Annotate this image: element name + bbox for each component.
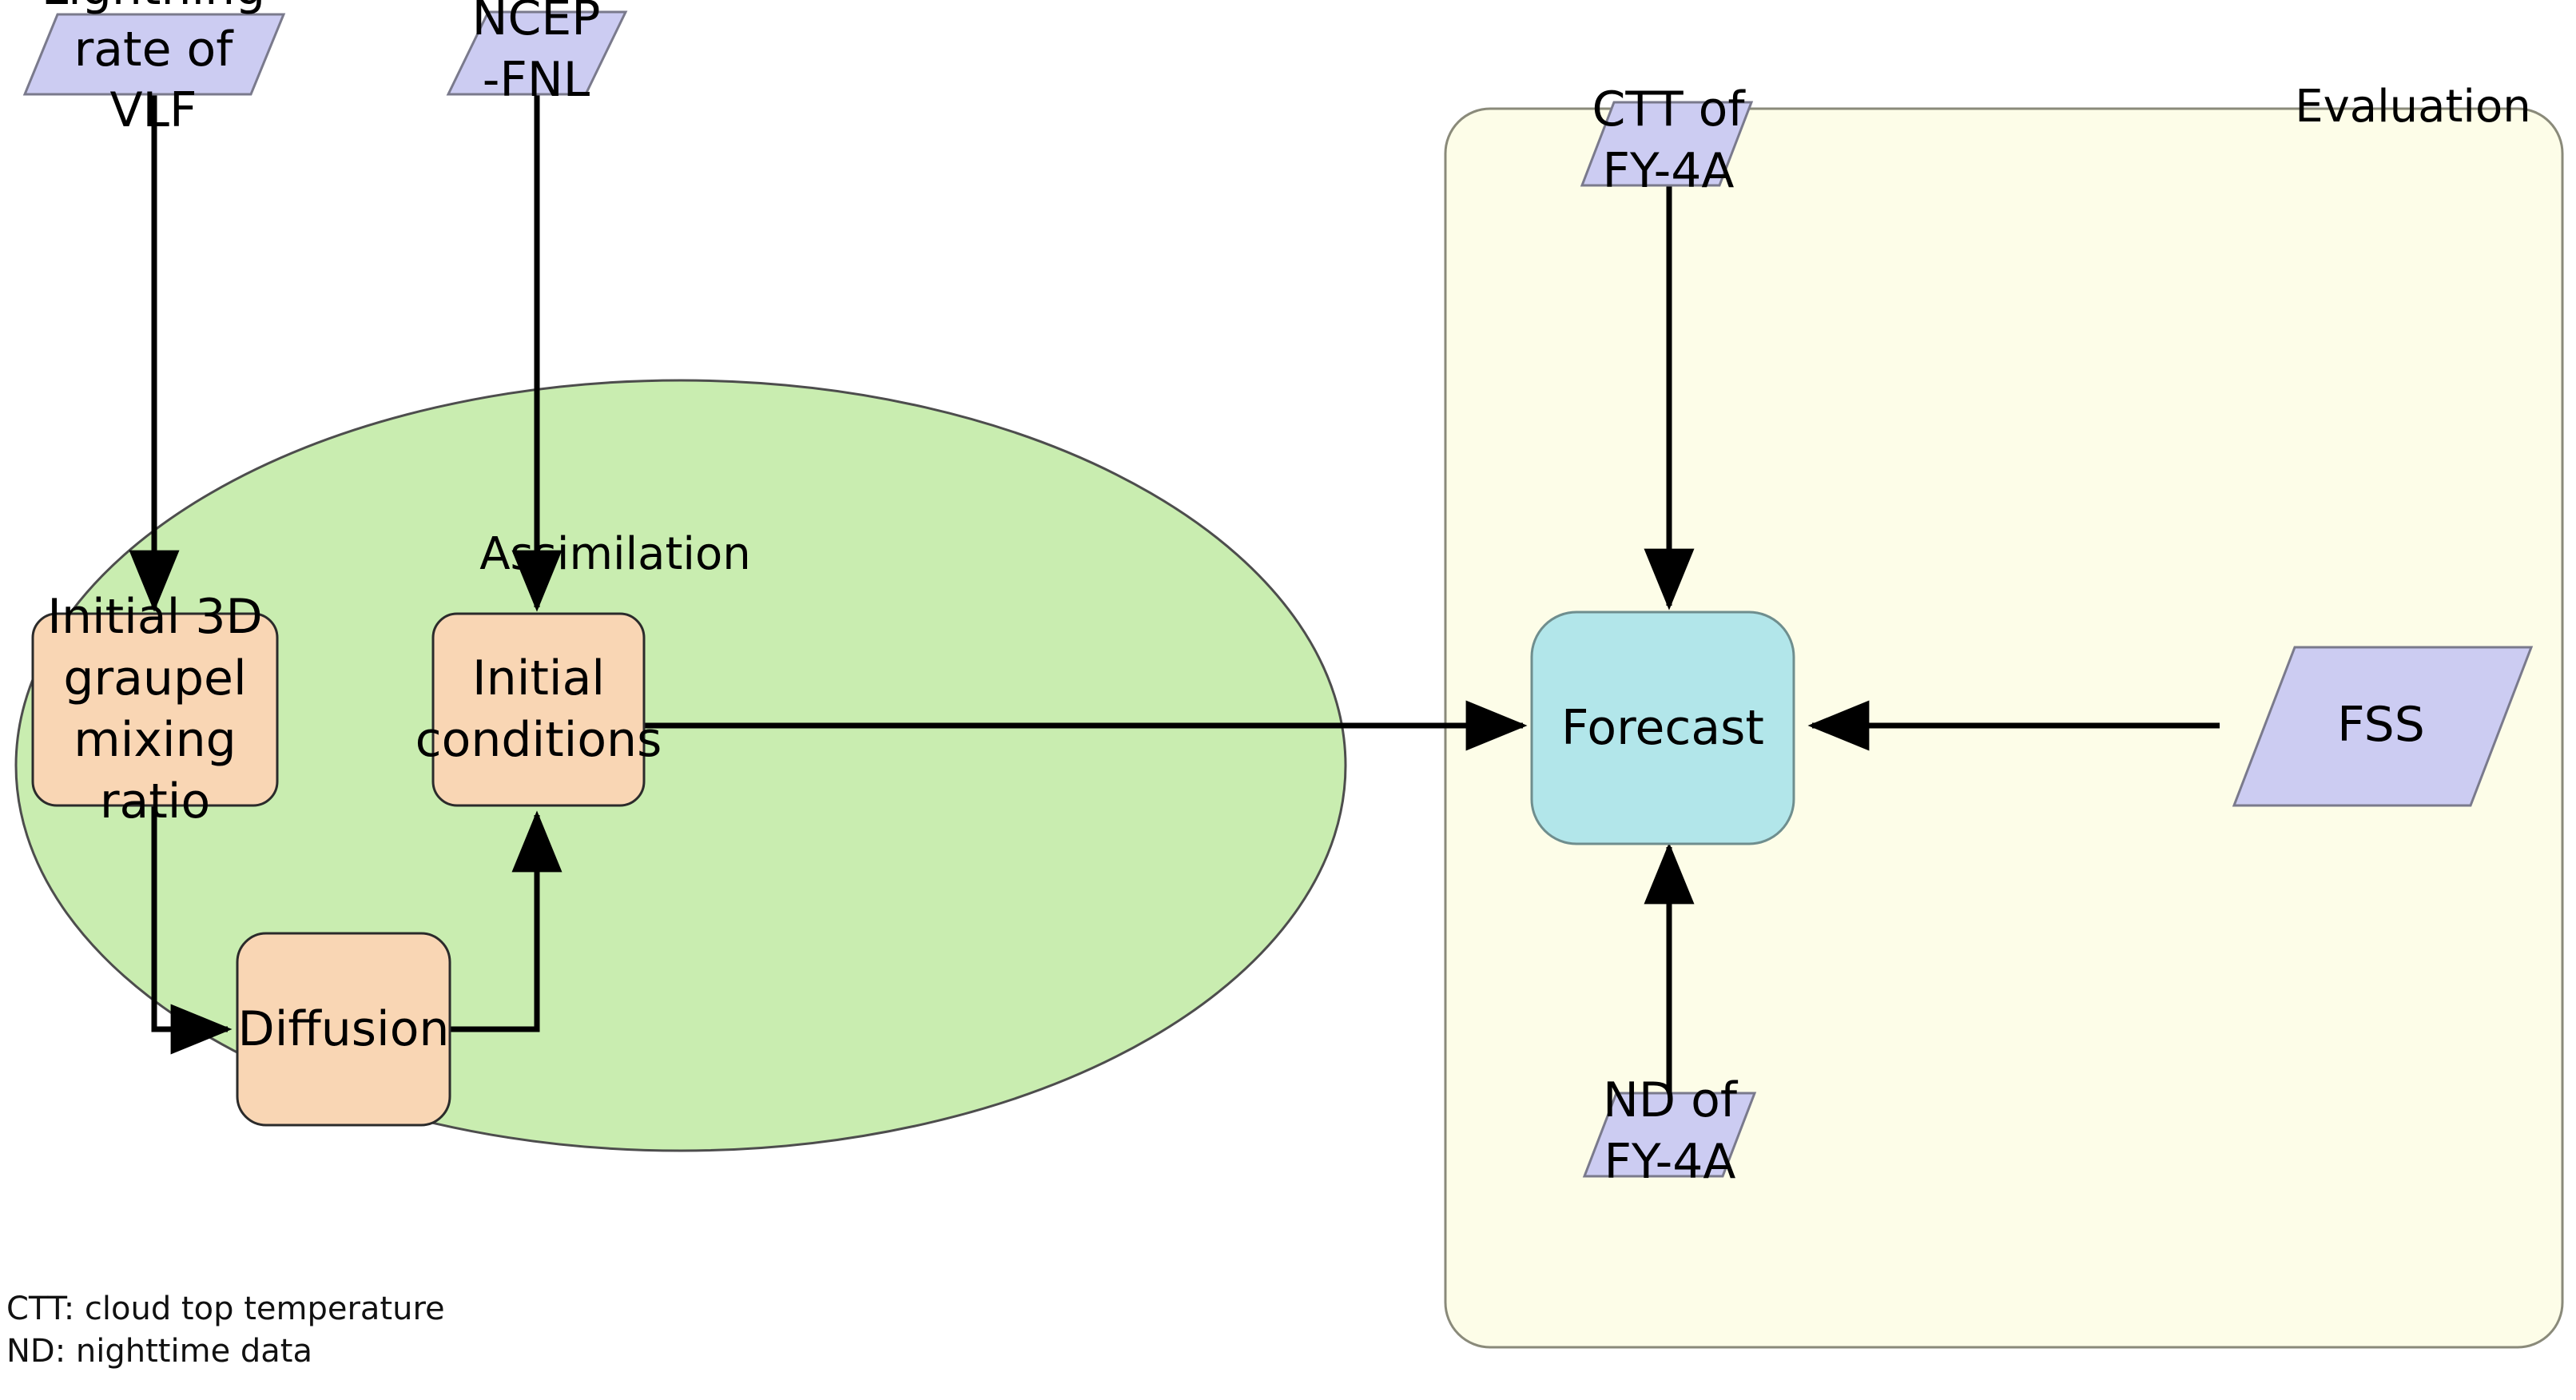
diagram-canvas: Lightning rate of VLF NCEP -FNL CTT of F… (0, 0, 2576, 1400)
legend: CTT: cloud top temperature ND: nighttime… (6, 1288, 445, 1373)
input-shape-lightning-rate-of-vlf[interactable] (25, 14, 284, 94)
input-shape-ncep-fnl[interactable] (448, 12, 626, 94)
flowchart-svg (0, 0, 2576, 1400)
legend-item-nd: ND: nighttime data (6, 1330, 445, 1373)
process-shape-diffusion[interactable] (237, 933, 450, 1125)
process-shape-initial-conditions[interactable] (433, 614, 644, 805)
process-shape-forecast[interactable] (1532, 612, 1794, 844)
process-shape-initial-3d-graupel-mixing-ratio[interactable] (33, 614, 277, 805)
legend-item-ctt: CTT: cloud top temperature (6, 1288, 445, 1330)
